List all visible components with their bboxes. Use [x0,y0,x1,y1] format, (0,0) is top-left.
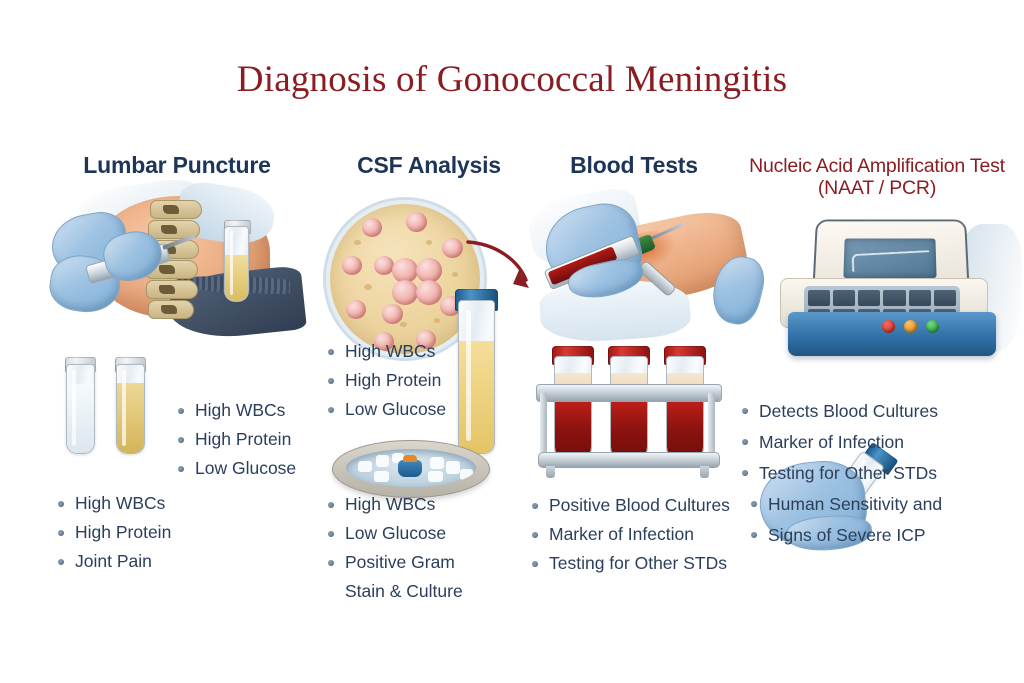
rack-base [538,452,720,468]
pcr-key[interactable] [909,290,931,306]
blood-tube [666,356,704,464]
list-item: Marker of Infection [530,520,730,549]
column-naat-pcr: Nucleic Acid Amplification Test (NAAT / … [732,0,1022,683]
list-item: High WBCs [326,337,446,366]
venipuncture-illustration [524,190,746,355]
column-heading-blood-tests: Blood Tests [524,152,744,179]
status-led-red [882,320,895,333]
column-heading-naat-pcr: Nucleic Acid Amplification Test (NAAT / … [732,155,1022,199]
amplification-curve-icon [852,250,931,272]
list-item: Marker of Infection [740,427,942,458]
specimen-tube-clear [66,364,95,454]
pcr-thermocycler-illustration [760,216,1022,366]
rack-leg [546,466,555,478]
bullet-list-lumbar-puncture-lower: High WBCs High Protein Joint Pain [56,489,171,576]
column-lumbar-puncture: Lumbar Puncture [48,0,306,683]
blood-tube-rack-illustration [536,340,720,490]
pcr-key[interactable] [883,290,905,306]
list-item: Detects Blood Cultures [740,396,942,427]
bullet-list-naat-pcr: Detects Blood Cultures Marker of Infecti… [740,396,942,551]
bullet-list-blood-tests: Positive Blood Cultures Marker of Infect… [530,491,730,578]
pcr-base-unit [788,312,996,356]
column-heading-naat-main: Nucleic Acid Amplification Test [749,155,1005,177]
pcr-key[interactable] [858,290,880,306]
column-heading-csf-analysis: CSF Analysis [318,152,540,179]
list-item: Human Sensitivity and [740,489,942,520]
list-item: Testing for Other STDs [530,549,730,578]
lumbar-puncture-illustration [50,188,312,353]
list-item: Low Glucose [326,395,446,424]
list-item: Positive Blood Cultures [530,491,730,520]
rack-post [708,392,715,454]
pcr-key[interactable] [833,290,855,306]
specimen-tube-yellow [116,364,145,454]
csf-sample-tube [224,226,249,302]
column-heading-naat-sub: (NAAT / PCR) [732,177,1022,199]
list-item: Joint Pain [56,547,171,576]
list-item: High Protein [56,518,171,547]
list-item: Signs of Severe ICP [740,520,942,551]
blood-tube [554,356,592,464]
list-item: High Protein [326,366,446,395]
infographic-canvas: Diagnosis of Gonococcal Meningitis Lumba… [0,0,1024,683]
bullet-list-lumbar-puncture-upper: High WBCs High Protein Low Glucose [176,396,296,483]
csf-vial [458,300,495,454]
list-item: High Protein [176,425,296,454]
status-led-green [926,320,939,333]
column-heading-lumbar-puncture: Lumbar Puncture [48,152,306,179]
list-item: High WBCs [56,489,171,518]
pcr-display-screen [843,239,936,279]
pcr-key[interactable] [808,290,830,306]
list-item: High WBCs [176,396,296,425]
column-csf-analysis: CSF Analysis [318,0,540,683]
bullet-list-csf-upper: High WBCs High Protein Low Glucose [326,337,446,424]
basin-specimen-vial [398,460,422,477]
status-led-orange [904,320,917,333]
list-item: Testing for Other STDs [740,458,942,489]
list-item: Low Glucose [326,519,463,548]
rack-post [540,392,547,454]
bullet-list-csf-lower: High WBCs Low Glucose Positive Gram Stai… [326,490,463,606]
list-item: Positive Gram Stain & Culture [326,548,463,606]
list-item: Low Glucose [176,454,296,483]
column-blood-tests: Blood Tests [524,0,744,683]
rack-leg [700,466,709,478]
pcr-key[interactable] [934,290,956,306]
blood-tube [610,356,648,464]
rack-top-rail [536,384,722,402]
list-item: High WBCs [326,490,463,519]
basin-interior [346,449,476,487]
